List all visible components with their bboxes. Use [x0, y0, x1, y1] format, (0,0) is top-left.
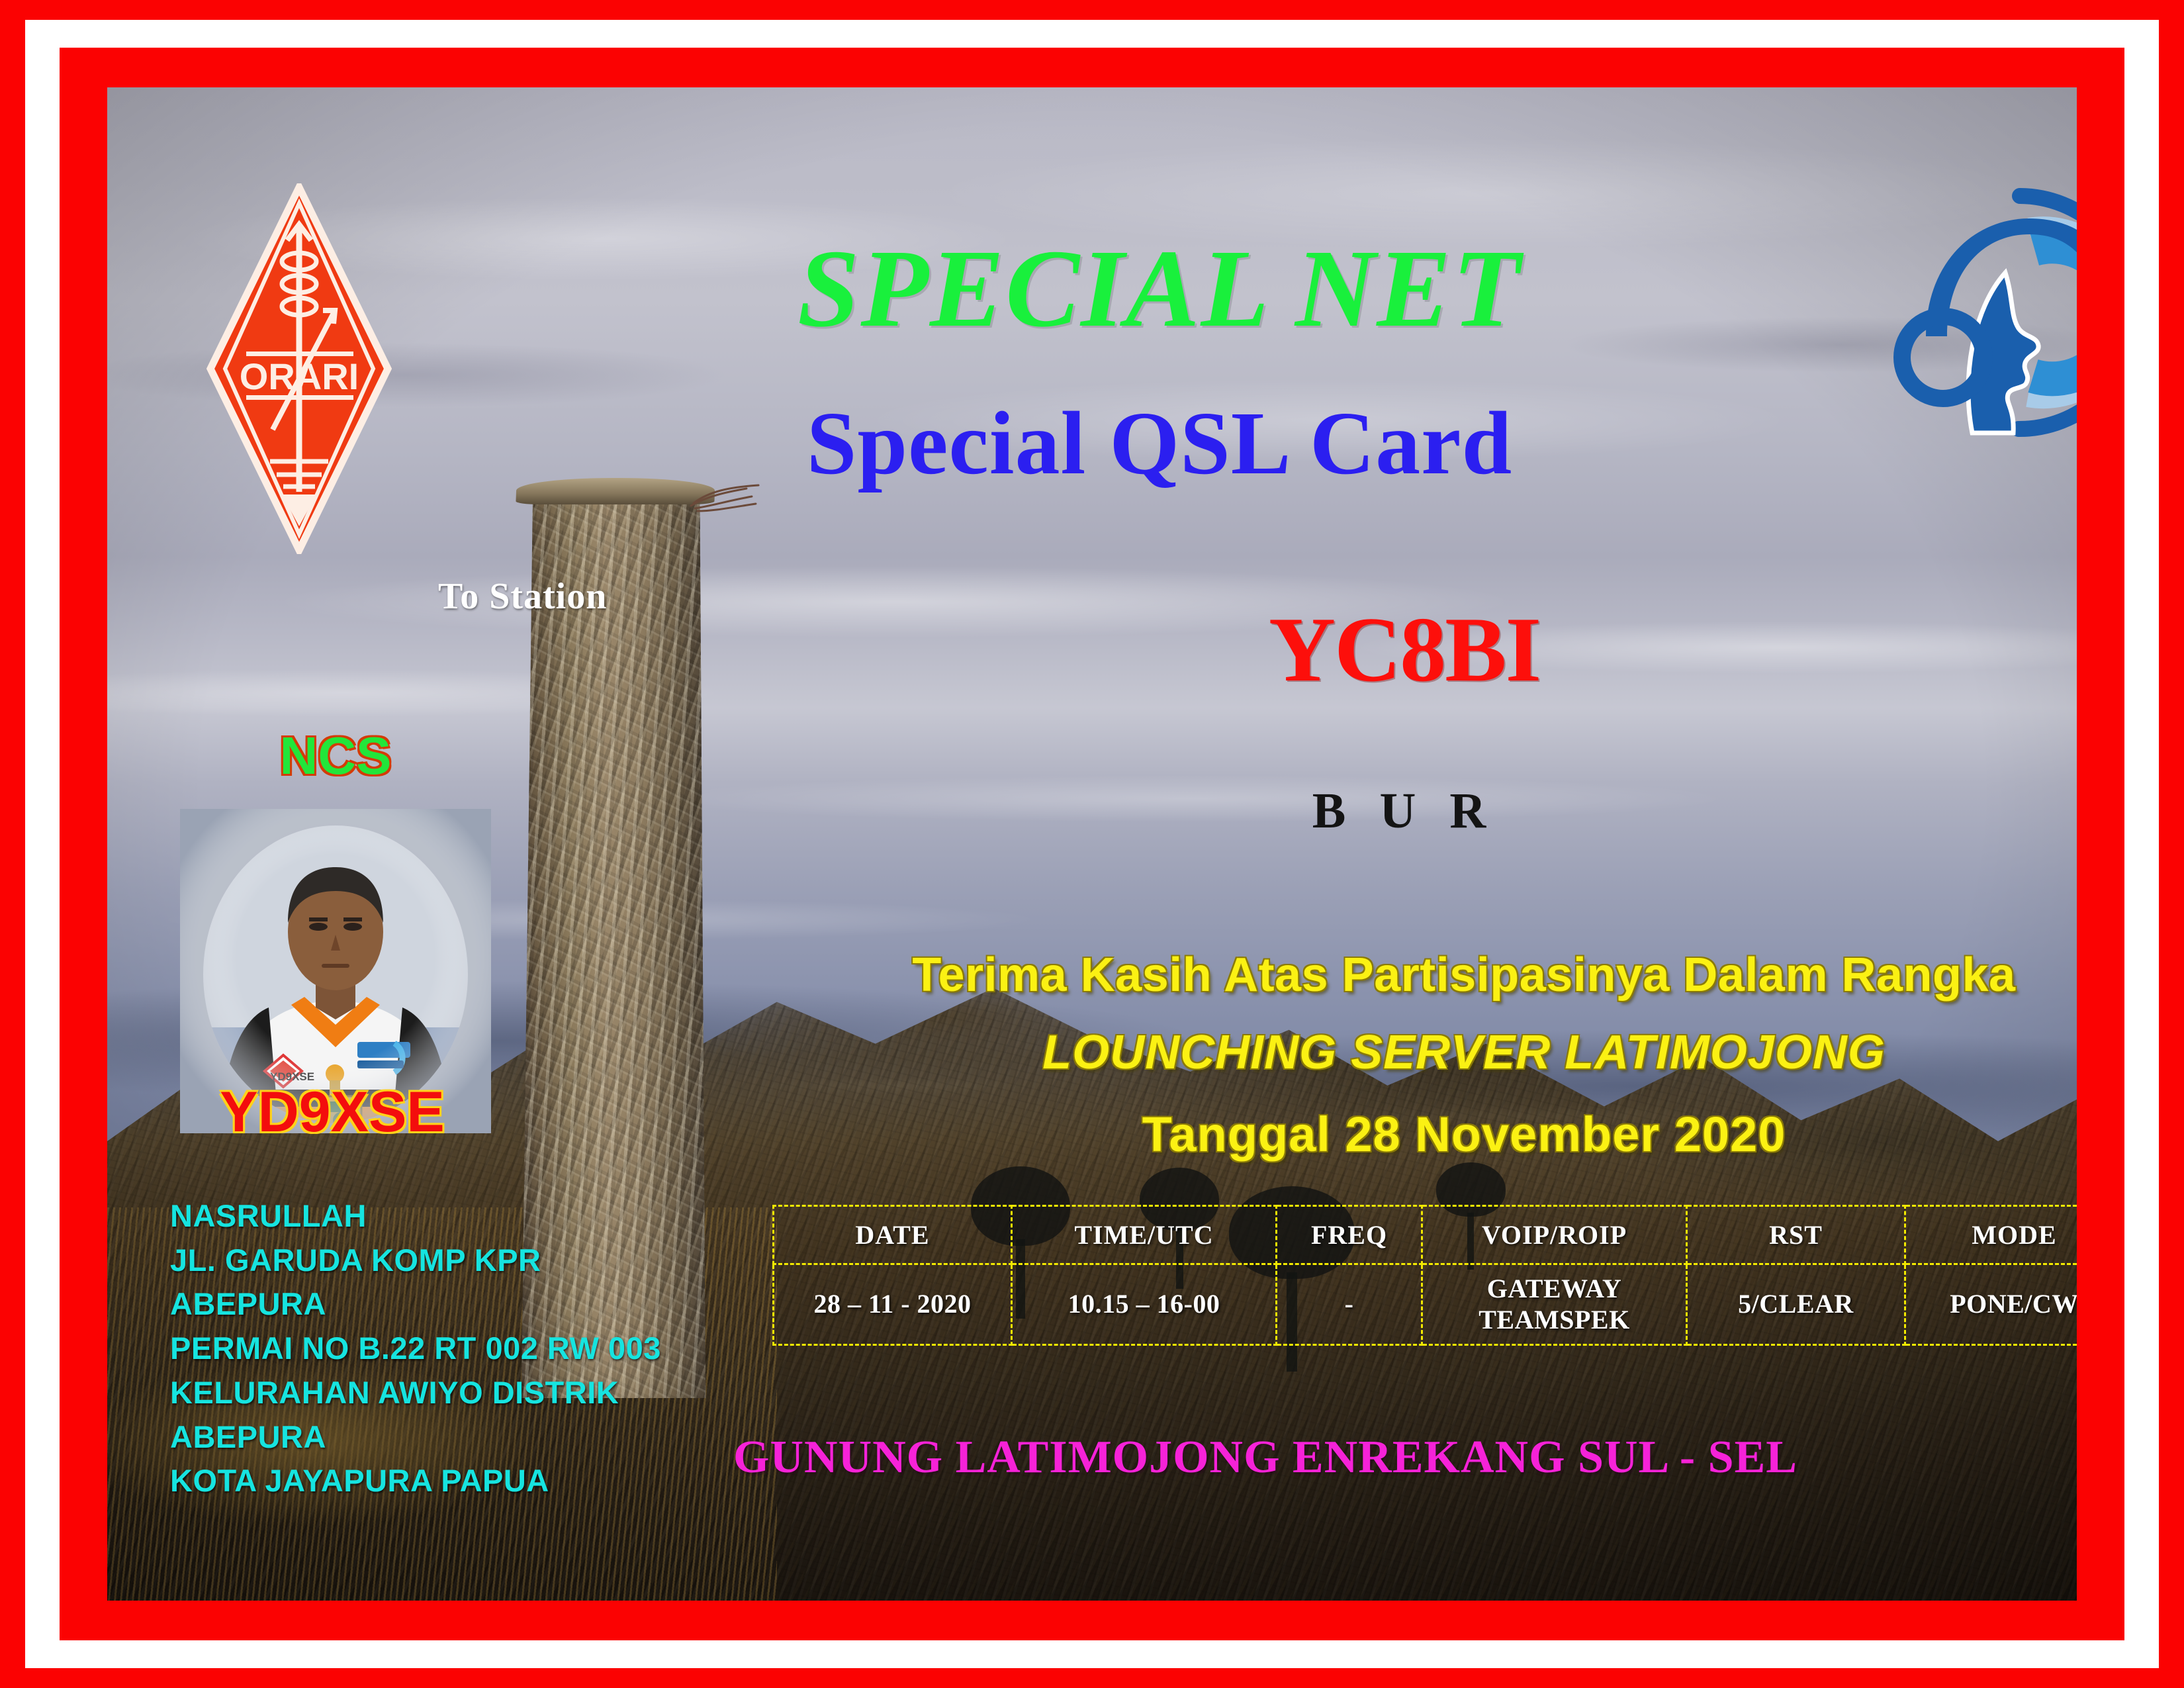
location-line: GUNUNG LATIMOJONG ENREKANG SUL - SEL	[570, 1431, 1960, 1484]
cell-voip-line-2: TEAMSPEK	[1423, 1305, 1686, 1335]
event-line-1: Terima Kasih Atas Partisipasinya Dalam R…	[769, 951, 2077, 999]
cell-voip: GATEWAY TEAMSPEK	[1422, 1264, 1687, 1345]
callsign-value: YC8BI	[1047, 604, 1762, 696]
address-line: ABEPURA	[170, 1282, 713, 1327]
to-station-label: To Station	[438, 575, 607, 618]
cell-mode: PONE/CW	[1905, 1264, 2077, 1345]
card-inner-red-border: ORARI	[60, 48, 2124, 1640]
table-row: 28 – 11 - 2020 10.15 – 16-00 - GATEWAY T…	[774, 1264, 2077, 1345]
qsl-card: ORARI	[0, 0, 2184, 1688]
cell-rst: 5/CLEAR	[1687, 1264, 1905, 1345]
ncs-label: NCS	[193, 729, 478, 782]
address-line: NASRULLAH	[170, 1194, 713, 1239]
column-header-voip: VOIP/ROIP	[1422, 1206, 1687, 1264]
headset-profile-logo	[1888, 180, 2077, 445]
column-header-mode: MODE	[1905, 1206, 2077, 1264]
address-line: KELURAHAN AWIYO DISTRIK	[170, 1371, 713, 1415]
address-line: JL. GARUDA KOMP KPR	[170, 1239, 713, 1283]
qso-log-table: DATE TIME/UTC FREQ VOIP/ROIP RST MODE 28…	[772, 1205, 2077, 1346]
ncs-callsign: YD9XSE	[173, 1084, 491, 1141]
page-title: SPECIAL NET	[531, 233, 1788, 344]
card-photo-background: ORARI	[107, 87, 2077, 1601]
orari-logo: ORARI	[206, 183, 392, 554]
column-header-time: TIME/UTC	[1012, 1206, 1277, 1264]
column-header-rst: RST	[1687, 1206, 1905, 1264]
event-line-3: Tanggal 28 November 2020	[769, 1110, 2077, 1159]
event-line-2: LOUNCHING SERVER LATIMOJONG	[769, 1029, 2077, 1076]
card-white-gap: ORARI	[25, 20, 2159, 1668]
column-header-date: DATE	[774, 1206, 1012, 1264]
callsign-suffix: B U R	[1047, 782, 1762, 840]
column-header-freq: FREQ	[1277, 1206, 1422, 1264]
address-line: PERMAI NO B.22 RT 002 RW 003	[170, 1327, 713, 1371]
orari-logo-text: ORARI	[240, 355, 359, 397]
cell-date: 28 – 11 - 2020	[774, 1264, 1012, 1345]
page-subtitle: Special QSL Card	[531, 399, 1788, 489]
cell-time: 10.15 – 16-00	[1012, 1264, 1277, 1345]
cell-freq: -	[1277, 1264, 1422, 1345]
table-header-row: DATE TIME/UTC FREQ VOIP/ROIP RST MODE	[774, 1206, 2077, 1264]
cell-voip-line-1: GATEWAY	[1423, 1274, 1686, 1304]
